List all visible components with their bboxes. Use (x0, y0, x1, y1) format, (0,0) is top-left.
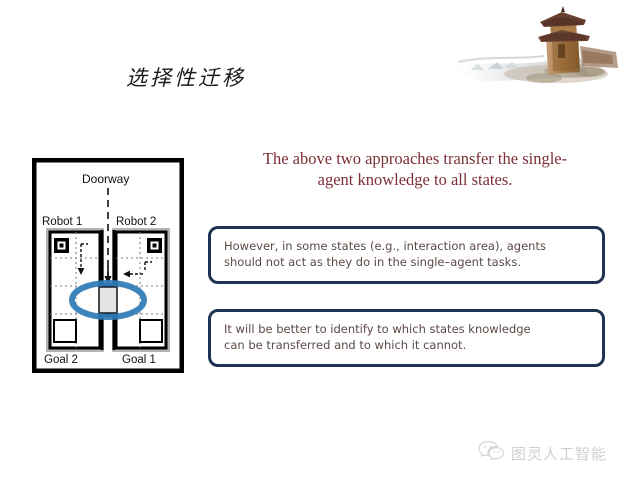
page-title: 选择性迁移 (126, 62, 246, 92)
callout-however-line-1: However, in some states (e.g., interacti… (224, 238, 590, 254)
wechat-logo-icon (478, 440, 504, 466)
svg-text:Robot 1: Robot 1 (42, 216, 82, 228)
callout-better-line-2: can be transferred and to which it canno… (224, 337, 590, 353)
headline-text: The above two approaches transfer the si… (215, 148, 615, 190)
callout-however: However, in some states (e.g., interacti… (208, 226, 605, 284)
svg-text:Doorway: Doorway (82, 172, 129, 186)
svg-text:Goal 1: Goal 1 (122, 354, 156, 366)
callout-however-line-2: should not act as they do in the single–… (224, 254, 590, 270)
ink-painting-decoration (440, 0, 640, 92)
gridworld-diagram: Doorway Robot 1 Robot 2 Goal 2 Goal 1 (32, 158, 184, 373)
svg-text:Robot 2: Robot 2 (116, 216, 156, 228)
callout-better: It will be better to identify to which s… (208, 309, 605, 367)
watermark-text: 图灵人工智能 (511, 443, 607, 464)
svg-text:Goal 2: Goal 2 (44, 354, 78, 366)
headline-line-2: agent knowledge to all states. (215, 169, 615, 190)
headline-line-1: The above two approaches transfer the si… (215, 148, 615, 169)
watermark: 图灵人工智能 (478, 440, 607, 466)
callout-better-line-1: It will be better to identify to which s… (224, 321, 590, 337)
